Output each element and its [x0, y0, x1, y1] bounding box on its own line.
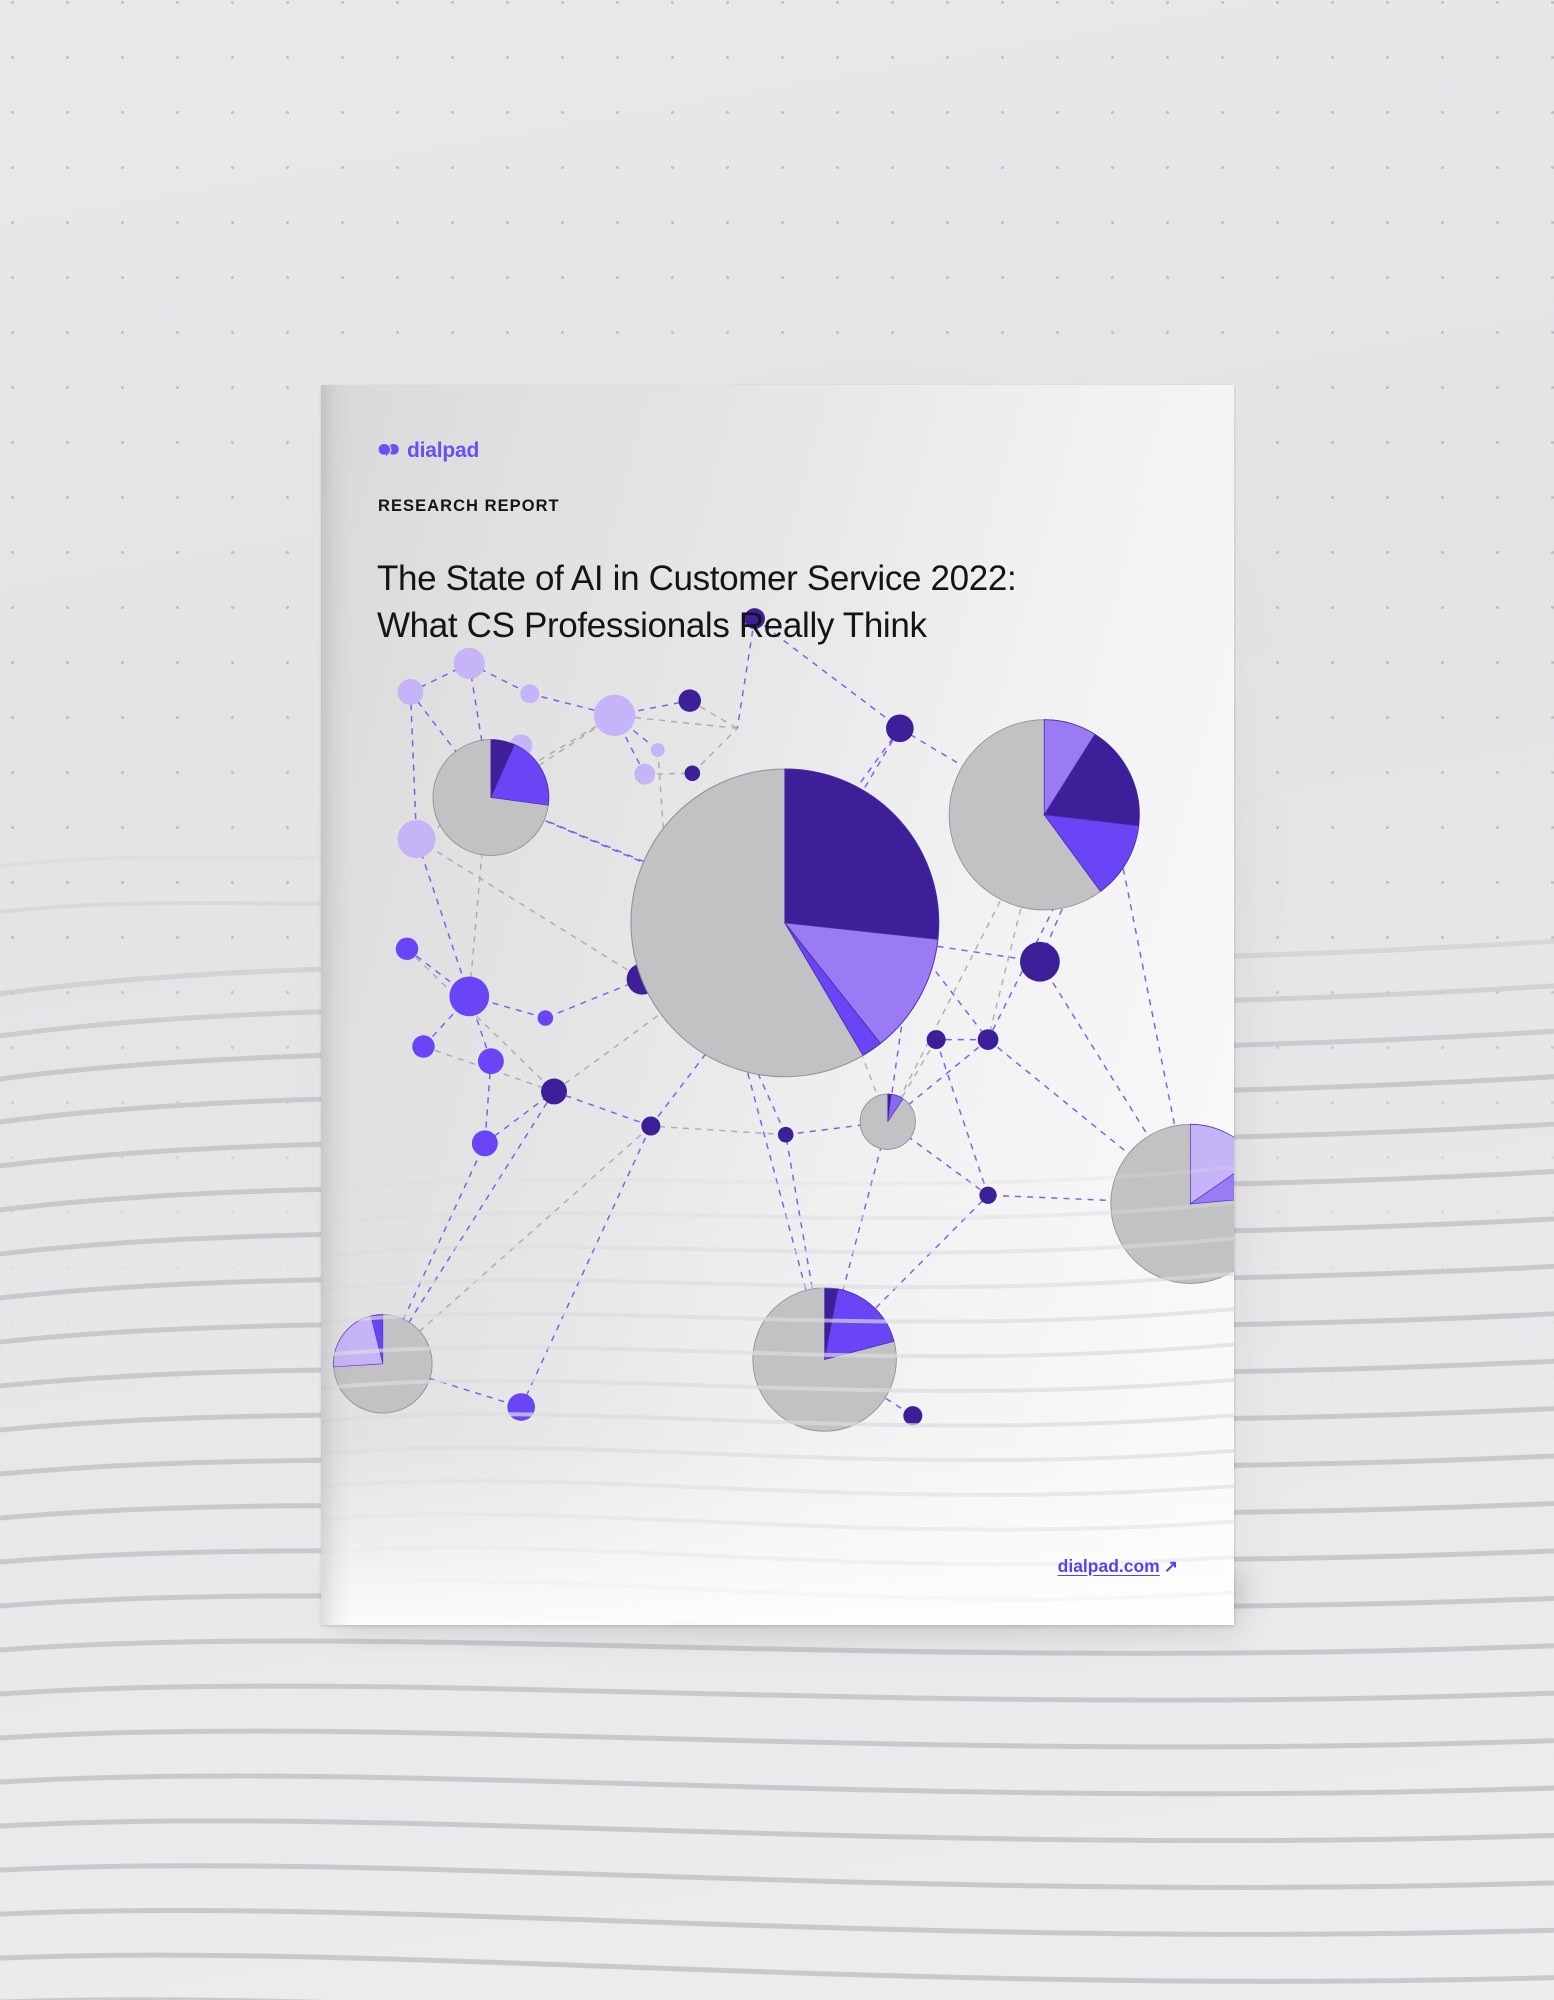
- dialpad-logo: dialpad: [378, 440, 479, 461]
- brand-wordmark: dialpad: [407, 440, 479, 461]
- external-link-arrow-icon: ↗: [1164, 1558, 1178, 1575]
- dialpad-website-link-label: dialpad.com: [1058, 1556, 1160, 1577]
- eyebrow-label: RESEARCH REPORT: [378, 497, 560, 516]
- dialpad-website-link[interactable]: dialpad.com ↗: [1058, 1556, 1178, 1577]
- dialpad-logo-icon: [378, 443, 400, 458]
- report-cover: dialpad RESEARCH REPORT The State of AI …: [321, 385, 1234, 1625]
- page-title: The State of AI in Customer Service 2022…: [377, 556, 1147, 650]
- screenshot-stage: dialpad RESEARCH REPORT The State of AI …: [0, 0, 1554, 2000]
- page-title-line-2: What CS Professionals Really Think: [377, 603, 1147, 650]
- page-title-line-1: The State of AI in Customer Service 2022…: [377, 556, 1147, 603]
